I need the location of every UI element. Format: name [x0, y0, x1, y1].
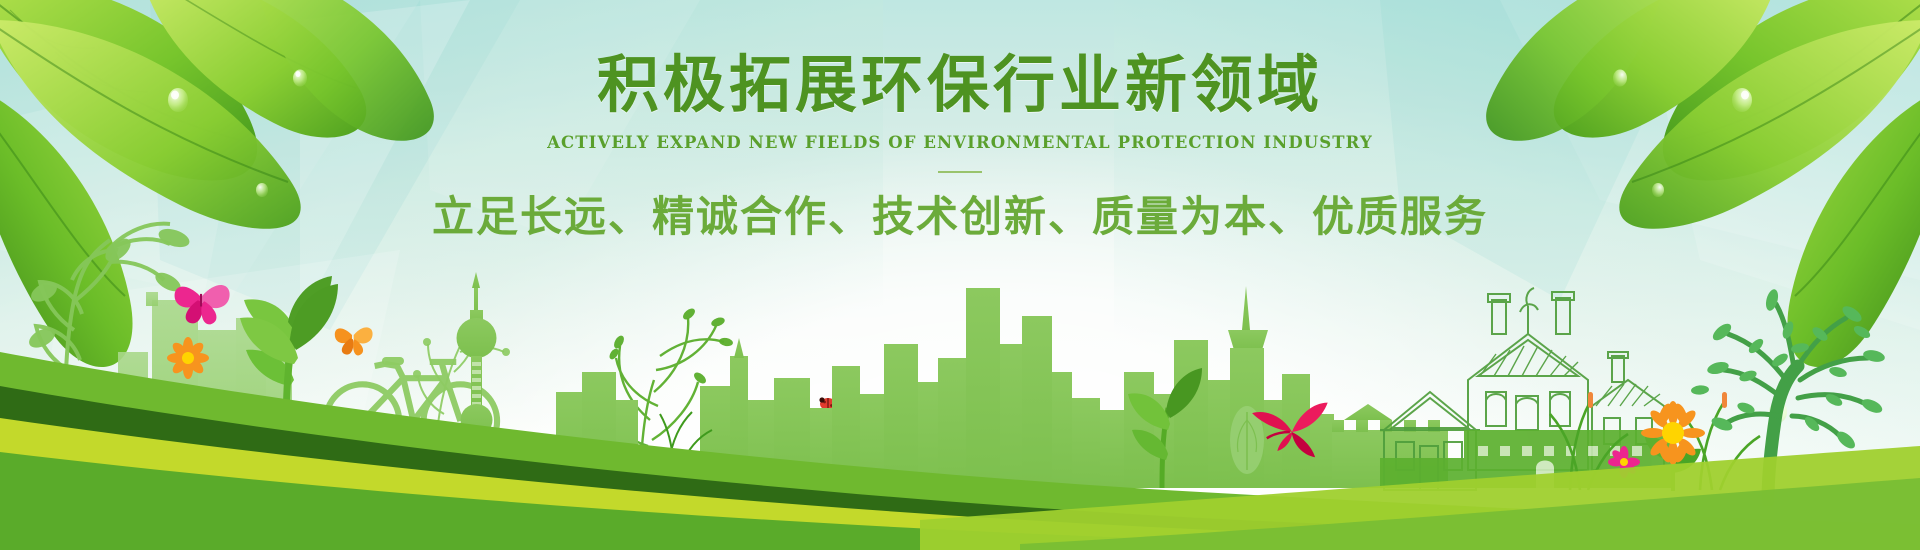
page-title: 积极拓展环保行业新领域 [0, 0, 1920, 117]
eco-banner: 积极拓展环保行业新领域 ACTIVELY EXPAND NEW FIELDS O… [0, 0, 1920, 550]
banner-text-block: 积极拓展环保行业新领域 ACTIVELY EXPAND NEW FIELDS O… [0, 0, 1920, 241]
page-tagline: 立足长远、精诚合作、技术创新、质量为本、优质服务 [0, 173, 1920, 241]
page-subtitle-english: ACTIVELY EXPAND NEW FIELDS OF ENVIRONMEN… [0, 117, 1920, 152]
title-divider [938, 171, 982, 173]
